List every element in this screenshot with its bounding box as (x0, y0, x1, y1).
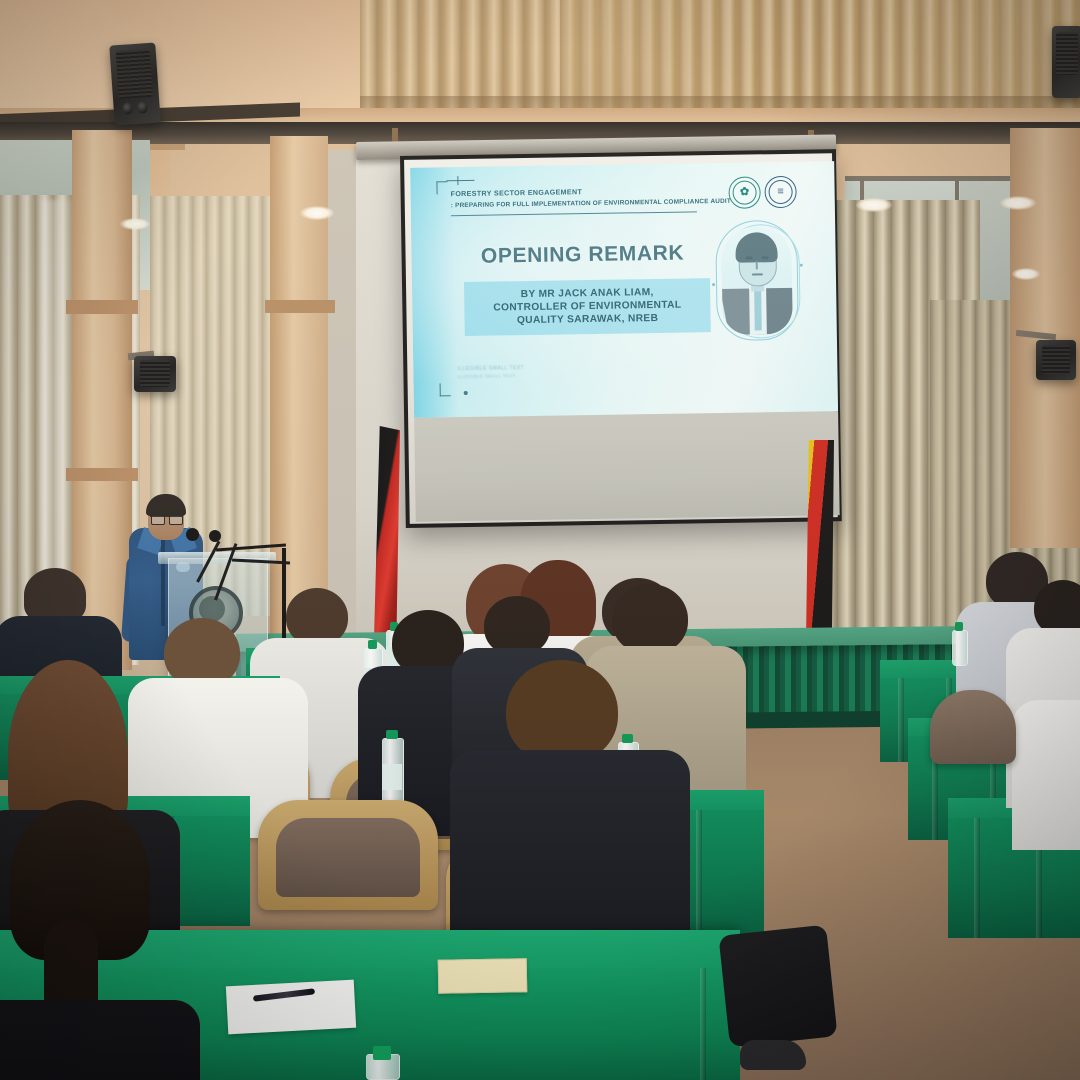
projected-slide: FORESTRY SECTOR ENGAGEMENT : PREPARING F… (410, 161, 838, 418)
chair-row3-1 (258, 800, 438, 910)
screen-surface: FORESTRY SECTOR ENGAGEMENT : PREPARING F… (404, 153, 838, 524)
slide-title: OPENING REMARK (457, 241, 707, 269)
slide-plus-mark-icon (457, 176, 458, 185)
bottle-cap (368, 640, 378, 649)
portrait-tie (754, 290, 762, 330)
portrait-dot-left-icon (712, 283, 715, 286)
wall-speaker-top-left (109, 42, 160, 125)
logo-glyph-2: ≡ (766, 186, 796, 197)
attendee-head (506, 660, 618, 764)
bottle-cap (373, 1046, 391, 1060)
water-bottle-3 (952, 622, 966, 666)
bottle-cap (386, 730, 397, 739)
portrait-eye-right (762, 256, 769, 259)
speaker-cone-right (137, 101, 148, 114)
table-pleat (974, 818, 980, 938)
wall-speaker-mid-left (134, 356, 176, 392)
attendee-torso (1012, 700, 1080, 850)
attendee-torso (0, 1000, 200, 1080)
speaker-grill-3 (140, 360, 170, 387)
flag-right (806, 440, 834, 648)
slide-footer: ILLEGIBLE SMALL TEXT ILLEGIBLE SMALL TEX… (457, 363, 617, 382)
speaker-grill-2 (1056, 32, 1078, 75)
pillar-left-band-upper (66, 300, 138, 314)
bottle-label (382, 764, 402, 790)
portrait-dot-right-icon (800, 264, 803, 267)
water-bottle-4 (382, 730, 402, 806)
table-pleat (700, 968, 706, 1080)
speaker-glasses-bridge (150, 516, 182, 524)
wall-speaker-top-right (1052, 26, 1080, 98)
speaker-grill (116, 49, 152, 99)
wall-speaker-mid-right (1036, 340, 1076, 380)
screen-blank-area (414, 411, 840, 522)
chair-row2-right (930, 690, 1016, 764)
table-pleat (696, 810, 702, 940)
shoe (740, 1040, 806, 1070)
pillar-left-band-lower (66, 468, 138, 481)
projector-screen: FORESTRY SECTOR ENGAGEMENT : PREPARING F… (400, 149, 842, 528)
speaker-grill-4 (1042, 345, 1071, 375)
ceiling-light-2 (856, 198, 892, 212)
bottle-cap (622, 734, 633, 743)
logo-glyph: ✿ (730, 187, 760, 198)
portrait-hair (735, 232, 777, 263)
paper-sheet (226, 980, 356, 1035)
portrait-eye-left (746, 256, 753, 259)
speaker-shirt-placket (161, 536, 165, 626)
table-pleat (898, 678, 904, 762)
slide-dot-mark-icon (464, 391, 468, 395)
ceiling-light-5 (1012, 268, 1040, 280)
portrait-image (721, 226, 793, 335)
notepad (438, 958, 528, 994)
microphone-head-1 (186, 528, 199, 541)
slide-corner-mark-bottom-left (440, 383, 451, 396)
attendee-head (612, 584, 688, 654)
speaker-cone-left (122, 102, 133, 115)
ceiling-soffit (0, 0, 360, 118)
ceiling-light-4 (120, 218, 150, 230)
stage-back-wall-edge (328, 150, 356, 650)
slide-corner-mark-top-left (436, 181, 447, 194)
slide-caption-box: BY MR JACK ANAK LIAM, CONTROLLER OF ENVI… (464, 278, 711, 336)
ceiling-light-3 (1000, 196, 1036, 210)
attendee-head (484, 596, 550, 656)
slide-header: FORESTRY SECTOR ENGAGEMENT : PREPARING F… (451, 185, 741, 212)
conference-hall-photo: FORESTRY SECTOR ENGAGEMENT : PREPARING F… (0, 0, 1080, 1080)
bottle-cap (955, 622, 963, 631)
microphone-head-2 (209, 530, 221, 542)
portrait-mouth (752, 273, 763, 275)
attendee-hair (24, 568, 86, 622)
chair-seat-pad (276, 818, 420, 897)
pillar-mid-band (265, 300, 335, 313)
portrait-nose (756, 261, 758, 269)
bottle-body (952, 630, 968, 666)
ceiling-light-1 (300, 206, 334, 220)
slide-speaker-portrait (711, 220, 805, 346)
backpack (718, 925, 837, 1048)
water-bottle-6 (366, 1046, 398, 1080)
